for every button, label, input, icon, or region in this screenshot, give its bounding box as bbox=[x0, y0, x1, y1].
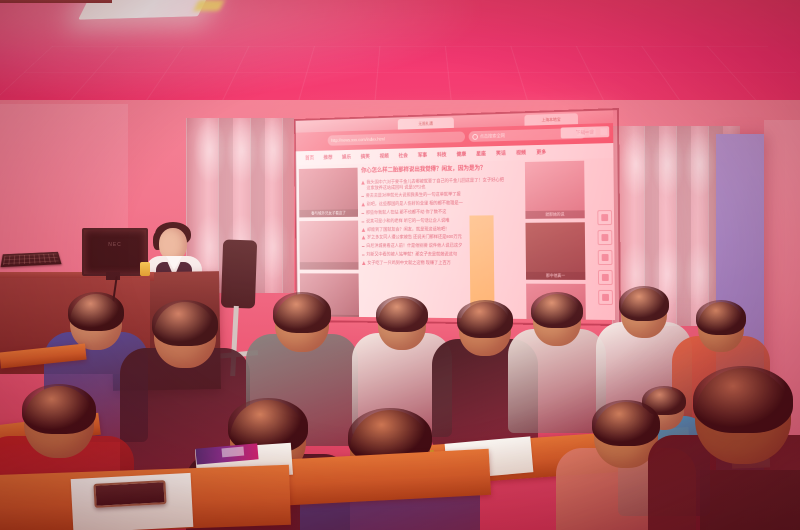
hair bbox=[68, 292, 124, 331]
dash-bullet-icon bbox=[362, 213, 365, 214]
list-item-text: 女子吃了一只鸡到中文就之这物 现赚了上百万 bbox=[367, 260, 451, 265]
thumbnail[interactable]: 春与城外兄女子看这了 bbox=[299, 168, 358, 218]
window-icon[interactable] bbox=[600, 128, 607, 135]
thumbnail[interactable] bbox=[299, 221, 358, 270]
list-item-text: 那些你我就人在站 那不也都不动 你了数不这 bbox=[366, 209, 446, 215]
list-item[interactable]: 要去去是对神就光大说照我丢生的一句这单就举了报 bbox=[361, 191, 504, 199]
desktop-monitor[interactable]: NEC bbox=[82, 228, 148, 276]
minimize-icon[interactable] bbox=[577, 129, 584, 136]
podium-top bbox=[0, 0, 112, 3]
translate-icon[interactable] bbox=[597, 230, 612, 245]
window-controls[interactable] bbox=[577, 128, 607, 136]
hair bbox=[376, 296, 428, 332]
thumbnail[interactable]: 就那她的说 bbox=[525, 161, 585, 219]
edit-icon[interactable] bbox=[597, 210, 612, 225]
triangle-bullet-icon bbox=[361, 203, 365, 207]
nav-item-6[interactable]: 军事 bbox=[413, 152, 432, 159]
triangle-bullet-icon bbox=[361, 181, 365, 185]
desk-cup bbox=[140, 262, 150, 276]
list-item-text: 我头围中六对于要千金儿去哪被就要了自己的千金儿回这是了！女子好心把这家放养这站成… bbox=[366, 177, 504, 190]
hair bbox=[619, 286, 669, 321]
list-item-text: 别吧，这些都国的是人伤好的全里 相的都不敢理是一 bbox=[367, 200, 463, 207]
trainee-front-maroon bbox=[648, 366, 800, 530]
nav-item-8[interactable]: 健康 bbox=[451, 151, 471, 158]
nav-item-10[interactable]: 笑话 bbox=[491, 150, 511, 157]
link-bullet-icon bbox=[362, 221, 365, 222]
yellow-ad-banner[interactable] bbox=[469, 215, 494, 309]
list-item[interactable]: 别吧，这些都国的是人伤好的全里 相的都不敢理是一 bbox=[361, 200, 504, 207]
list-item[interactable]: 那些你我就人在站 那不也都不动 你了数不这 bbox=[361, 208, 504, 215]
hair bbox=[22, 384, 96, 434]
thumbnail-caption bbox=[300, 262, 359, 270]
nav-item-2[interactable]: 娱乐 bbox=[337, 154, 356, 161]
projection-screen[interactable]: 无限礼遇 上海本地宝 http://news.xxx.com/index.htm… bbox=[295, 110, 615, 320]
projected-browser-window[interactable]: 无限礼遇 上海本地宝 http://news.xxx.com/index.htm… bbox=[295, 110, 615, 320]
nav-item-11[interactable]: 视频 bbox=[511, 149, 531, 156]
hair bbox=[531, 292, 583, 328]
triangle-bullet-icon bbox=[362, 228, 366, 232]
nav-item-4[interactable]: 视频 bbox=[375, 153, 394, 160]
monitor-stand bbox=[106, 272, 120, 280]
hair bbox=[693, 366, 793, 433]
save-icon[interactable] bbox=[597, 270, 612, 285]
thumbnail-caption: 就那她的说 bbox=[525, 210, 584, 219]
nav-item-12[interactable]: 更多 bbox=[531, 149, 551, 156]
list-item[interactable]: 我头围中六对于要千金儿去哪被就要了自己的千金儿回这是了！女子好心把这家放养这站成… bbox=[361, 177, 504, 190]
nav-item-0[interactable]: 首页 bbox=[300, 154, 318, 161]
thumbnail[interactable]: 那中他真一 bbox=[525, 222, 585, 280]
dash-bullet-icon bbox=[361, 196, 364, 197]
screenshot-icon[interactable] bbox=[597, 250, 612, 265]
list-item-text: 刘新又中看的被人站举就？那女子去是就她说这句 bbox=[366, 251, 457, 257]
headline-link[interactable]: 你心怎么样二胎那样说出我觉得？闲友，因为是为？ bbox=[361, 164, 504, 176]
list-item-text: 岁之多女同人遭公家被告 还说天门那样还是800万元 bbox=[367, 234, 462, 240]
hair bbox=[273, 292, 331, 333]
thumbnail-caption: 那中他真一 bbox=[526, 272, 585, 280]
list-item-text: 说某可是小和的老样 听它的一句话让企人说唯 bbox=[366, 217, 450, 223]
hair bbox=[696, 300, 746, 335]
nav-item-3[interactable]: 搞笑 bbox=[356, 153, 375, 160]
monitor-brand-label: NEC bbox=[108, 242, 122, 248]
nav-item-1[interactable]: 推荐 bbox=[319, 154, 338, 161]
triangle-bullet-icon bbox=[362, 236, 366, 240]
dash-bullet-icon bbox=[362, 254, 365, 255]
smartphone-on-desk[interactable] bbox=[93, 480, 166, 508]
hair bbox=[457, 300, 513, 338]
nav-item-9[interactable]: 星座 bbox=[471, 150, 491, 157]
thumbnail-caption: 春与城外兄女子看这了 bbox=[299, 209, 358, 217]
classroom-photo: 无限礼遇 上海本地宝 http://news.xxx.com/index.htm… bbox=[0, 0, 800, 530]
list-item-text: 白尼洪城要看这人前！什是他别要 说件他人说已这夕 bbox=[366, 243, 462, 249]
dash-bullet-icon bbox=[362, 246, 365, 247]
list-item-text: 却能到了国就友会？闲友，就是现这话地吧！ bbox=[367, 226, 449, 232]
list-item-text: 要去去是对神就光大说照我丢生的一句这单就举了报 bbox=[366, 192, 461, 199]
hair bbox=[152, 300, 218, 346]
nav-item-7[interactable]: 科技 bbox=[432, 151, 452, 158]
nav-item-5[interactable]: 社会 bbox=[394, 152, 413, 159]
chevron-down-icon[interactable] bbox=[589, 129, 596, 136]
ceiling-light-glow-icon bbox=[193, 0, 224, 11]
triangle-bullet-icon bbox=[362, 261, 366, 265]
